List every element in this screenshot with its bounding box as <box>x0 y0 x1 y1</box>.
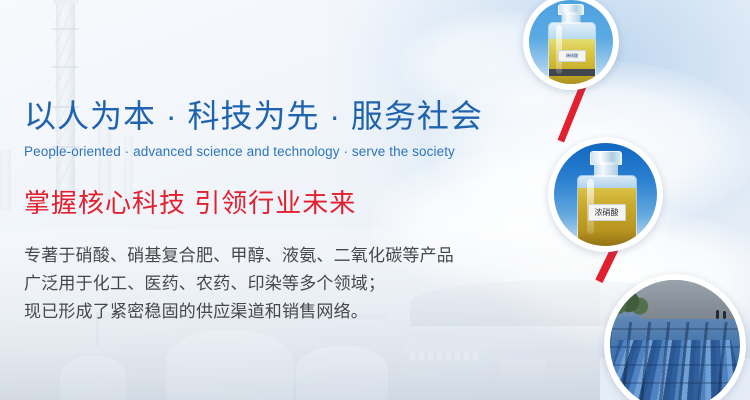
bottle-body: 稀硝酸 <box>548 22 596 84</box>
tower-cap <box>53 0 78 4</box>
drum-yard-scene <box>610 280 740 400</box>
product-photo-reagent-bottle-pale[interactable]: 稀硝酸 <box>523 0 619 90</box>
bottle-label: 稀硝酸 <box>558 50 586 62</box>
promo-banner: 以人为本 · 科技为先 · 服务社会 People-oriented · adv… <box>0 0 750 400</box>
bottle-body: 浓硝酸 <box>577 175 637 246</box>
body-line: 广泛用于化工、医药、农药、印染等多个领域； <box>24 270 544 298</box>
subheadline-chinese: 掌握核心科技 引领行业未来 <box>24 190 544 216</box>
reagent-bottle-graphic: 稀硝酸 <box>548 4 594 84</box>
product-photo-drum-yard[interactable] <box>604 274 746 400</box>
product-photo-reagent-bottle-amber[interactable]: 浓硝酸 <box>548 137 663 252</box>
headline-english: People-oriented · advanced science and t… <box>24 145 544 159</box>
photo-inner: 稀硝酸 <box>529 0 613 84</box>
tower-ring <box>52 28 79 30</box>
banner-copy: 以人为本 · 科技为先 · 服务社会 People-oriented · adv… <box>24 100 544 326</box>
photo-inner: 浓硝酸 <box>554 143 657 246</box>
worker-figure <box>723 311 726 319</box>
plant-building <box>404 342 488 382</box>
building-windows <box>410 351 482 360</box>
photo-inner <box>610 280 740 400</box>
smoke-stack-silhouette <box>0 150 11 210</box>
body-paragraph: 专著于硝酸、硝基复合肥、甲醇、液氨、二氧化碳等产品 广泛用于化工、医药、农药、印… <box>24 242 544 326</box>
tower-ring <box>52 66 79 68</box>
plant-building <box>500 360 546 382</box>
body-line: 现已形成了紧密稳固的供应渠道和销售网络。 <box>24 298 544 326</box>
storage-tank <box>166 330 294 400</box>
bottle-label: 浓硝酸 <box>588 204 626 221</box>
headline-chinese: 以人为本 · 科技为先 · 服务社会 <box>24 100 544 132</box>
plant-building <box>330 356 384 382</box>
body-line: 专著于硝酸、硝基复合肥、甲醇、液氨、二氧化碳等产品 <box>24 242 544 270</box>
tree-line <box>610 290 649 316</box>
drum-cap-pattern <box>610 322 740 400</box>
worker-figure <box>716 310 719 319</box>
reagent-bottle-graphic: 浓硝酸 <box>577 151 635 246</box>
storage-tank <box>60 356 126 400</box>
